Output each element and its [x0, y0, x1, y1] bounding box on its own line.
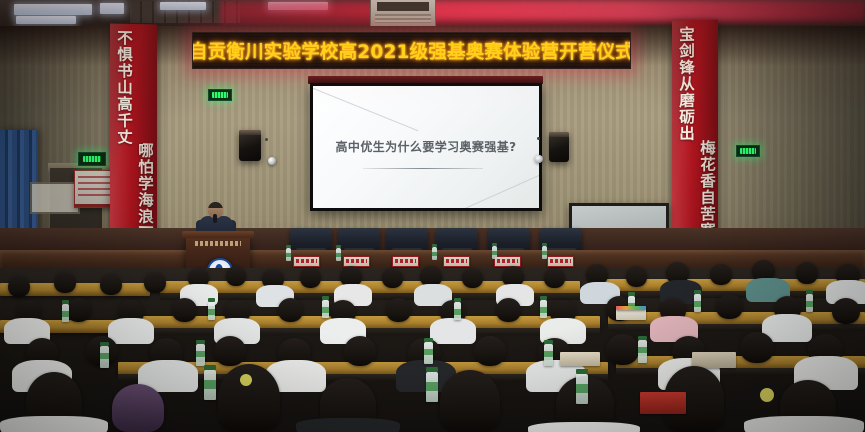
desk-water-bottle	[208, 302, 215, 320]
wall-speaker-right	[549, 132, 569, 162]
audience-head	[716, 294, 743, 319]
audience-head	[172, 298, 197, 322]
exit-sign-left	[78, 152, 106, 166]
desk-water-bottle	[544, 344, 553, 366]
audience-head	[832, 298, 860, 324]
bottle-label	[492, 251, 497, 255]
bottle-cap	[426, 367, 438, 372]
wall-camera-left	[268, 157, 276, 165]
audience-head	[462, 268, 483, 288]
stage-water-bottle	[432, 247, 437, 260]
audience-head	[226, 266, 246, 286]
bottle-label	[62, 311, 69, 317]
exit-sign-right	[736, 145, 760, 157]
wall-fixture-dot	[537, 137, 540, 140]
desk-book-stack	[616, 306, 646, 310]
audience-torso	[430, 318, 476, 344]
wall-board-left	[30, 182, 80, 214]
audience-head	[474, 336, 506, 366]
exit-sign-center-left	[208, 89, 232, 101]
bottle-label	[100, 353, 109, 359]
panel-light-2	[100, 3, 124, 14]
ceiling-projector-icon	[370, 0, 436, 27]
bottle-cap	[540, 296, 547, 300]
audience-head	[278, 298, 303, 322]
desk-front	[608, 324, 865, 331]
nameplate-text	[296, 259, 317, 263]
slide-underline	[363, 168, 483, 169]
bottle-cap	[286, 245, 291, 248]
bottle-cap	[638, 336, 647, 340]
panel-light-1	[14, 4, 92, 15]
bottle-cap	[454, 298, 461, 302]
hair-accessory	[760, 388, 774, 402]
projector-vent	[375, 14, 431, 23]
audience-torso	[528, 422, 640, 432]
audience-head	[740, 332, 774, 363]
notice-line-4	[78, 194, 114, 196]
bottle-cap	[196, 340, 205, 344]
bottle-cap	[204, 365, 216, 370]
bottle-label	[322, 307, 329, 313]
bottle-label	[694, 301, 701, 307]
bottle-cap	[542, 243, 547, 246]
bottle-cap	[576, 369, 588, 374]
desk-water-bottle	[100, 346, 109, 368]
bottle-label	[424, 349, 433, 355]
bottle-cap	[628, 292, 635, 296]
audience-torso	[108, 318, 154, 344]
ceiling-red-glow-band	[395, 0, 865, 20]
stage-water-bottle	[492, 246, 497, 259]
bottle-cap	[492, 243, 497, 246]
desk-book-stack	[640, 392, 686, 414]
bottle-cap	[432, 244, 437, 247]
audience-head	[144, 272, 166, 293]
bottle-cap	[806, 290, 813, 294]
audience-head	[796, 262, 818, 284]
bottle-label	[286, 253, 291, 257]
bottle-label	[576, 384, 588, 393]
bottle-label	[544, 351, 553, 357]
desk-water-bottle	[638, 340, 647, 363]
nameplate-text	[346, 259, 367, 263]
desk-book-stack	[560, 352, 600, 366]
bottle-label	[540, 307, 547, 313]
audience-torso	[296, 418, 400, 432]
audience-head	[344, 336, 376, 366]
podium-engraved-text	[195, 241, 241, 246]
desk-front	[140, 328, 600, 335]
lecture-hall-photo: 不惧书山高千丈 哪怕学海浪万重 宝剑锋从磨砺出 梅花香自苦寒来 自贡衡川实验学校…	[0, 0, 865, 432]
bottle-label	[426, 382, 438, 391]
exit-icon	[740, 148, 755, 154]
bottle-label	[204, 380, 216, 389]
nameplate-text	[446, 259, 467, 263]
bottle-cap	[322, 296, 329, 300]
desk-water-bottle	[322, 300, 329, 318]
stage-nameplate	[547, 256, 574, 267]
desk-water-bottle	[62, 304, 69, 322]
stage-nameplate	[293, 256, 320, 267]
audience-head	[386, 298, 411, 322]
speaker-mount	[239, 130, 261, 135]
audience-head	[214, 336, 246, 366]
wall-fixture-dot	[265, 138, 268, 141]
led-banner: 自贡衡川实验学校高2021级强基奥赛体验营开营仪式	[192, 32, 631, 69]
audience-head	[710, 264, 732, 285]
projector-faceplate	[377, 2, 429, 11]
hair-accessory	[240, 374, 252, 386]
bottle-label	[638, 347, 647, 353]
desk-water-bottle	[196, 344, 205, 366]
bottle-cap	[100, 342, 109, 346]
projection-screen: 高中优生为什么要学习奥赛强基?	[310, 83, 542, 211]
desk-water-bottle	[424, 342, 433, 364]
stage-water-bottle	[286, 248, 291, 261]
bottle-label	[208, 309, 215, 315]
bottle-label	[542, 251, 547, 255]
desk-water-bottle	[576, 374, 588, 404]
desk-water-bottle	[806, 294, 813, 312]
wall-speaker-left	[239, 130, 261, 161]
audience-head	[112, 384, 164, 432]
panel-light-5	[16, 16, 76, 24]
bottle-cap	[424, 338, 433, 342]
projection-surface: 高中优生为什么要学习奥赛强基?	[313, 86, 539, 208]
audience-head	[8, 276, 30, 297]
audience-head	[496, 298, 521, 322]
microphone-icon	[213, 214, 217, 223]
audience-head	[626, 266, 647, 287]
stage-nameplate	[494, 256, 521, 267]
stage-nameplate	[443, 256, 470, 267]
audience-head	[66, 298, 91, 322]
desk-water-bottle	[204, 370, 216, 400]
led-banner-text: 自贡衡川实验学校高2021级强基奥赛体验营开营仪式	[192, 38, 631, 64]
stage-water-bottle	[542, 246, 547, 259]
bottle-label	[432, 252, 437, 256]
audience-head	[544, 268, 565, 288]
audience-head	[382, 268, 403, 288]
bottle-cap	[336, 245, 341, 248]
desk-water-bottle	[694, 294, 701, 312]
bottle-cap	[544, 340, 553, 344]
bottle-label	[806, 301, 813, 307]
bottle-cap	[208, 298, 215, 302]
wall-camera-right	[535, 155, 543, 163]
bottle-cap	[62, 300, 69, 304]
audience-torso	[0, 416, 108, 432]
audience-head	[300, 267, 321, 288]
nameplate-text	[497, 259, 518, 263]
stage-nameplate	[343, 256, 370, 267]
audience-torso	[744, 416, 864, 432]
audience-head	[54, 272, 76, 293]
bottle-label	[336, 253, 341, 257]
desk-water-bottle	[454, 302, 461, 320]
stage-nameplate	[392, 256, 419, 267]
podium-top-surface	[182, 231, 254, 238]
bottle-label	[454, 309, 461, 315]
audience-head	[606, 334, 639, 365]
speaker-mount	[549, 132, 569, 137]
nameplate-text	[395, 259, 416, 263]
audience-head	[440, 370, 500, 432]
panel-light-3	[160, 2, 206, 10]
exit-icon	[212, 92, 227, 98]
desk-water-bottle	[540, 300, 547, 318]
desk-water-bottle	[426, 372, 438, 402]
exit-icon	[83, 156, 101, 163]
bottle-cap	[694, 290, 701, 294]
nameplate-text	[550, 259, 571, 263]
stage-water-bottle	[336, 248, 341, 261]
bottle-label	[196, 351, 205, 357]
audience-head	[100, 274, 122, 295]
slide-title-text: 高中优生为什么要学习奥赛强基?	[313, 138, 539, 155]
